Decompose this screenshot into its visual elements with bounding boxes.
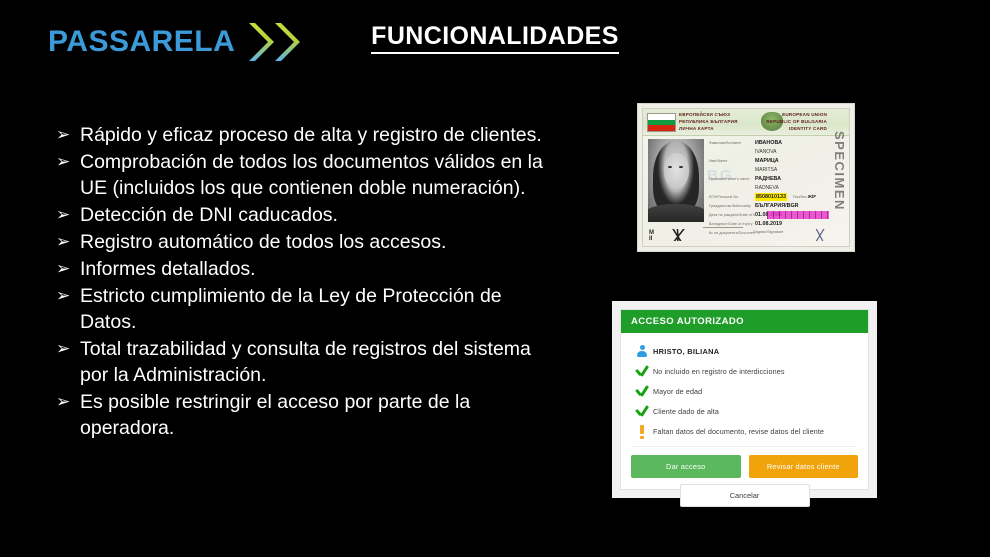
list-item-text: Rápido y eficaz proceso de alta y regist… (80, 122, 548, 148)
id-field-list: Фамилия/Surname ИВАНОВА IVANOVA Име/Name… (709, 139, 829, 238)
id-field-fathers-name-latin: RADNEVA (709, 184, 829, 192)
list-item: ➢ Informes detallados. (56, 256, 548, 282)
bullet-arrow-icon: ➢ (56, 202, 80, 228)
access-dialog: ACCESO AUTORIZADO HRISTO, BILIANA No inc… (620, 309, 869, 490)
specimen-watermark: SPECIMEN (832, 131, 847, 211)
id-field-egn: ЕГН/Personal No 8508010133 Пол/Sex Ж/F (709, 193, 829, 201)
id-field-value-latin: RADNEVA (755, 184, 779, 192)
grant-access-button[interactable]: Dar acceso (631, 455, 741, 478)
check-row-text: Mayor de edad (653, 387, 702, 396)
id-field-value-latin: IVANOVA (755, 148, 777, 156)
bullet-arrow-icon: ➢ (56, 149, 80, 175)
id-header-line: РЕПУБЛИКА БЪЛГАРИЯ (679, 118, 738, 125)
id-field-label: Гражданство/Nationality (709, 202, 755, 210)
warning-row-text: Faltan datos del documento, revise datos… (653, 427, 824, 436)
id-field-value: БЪЛГАРИЯ/BGR (755, 202, 799, 210)
list-item: ➢ Estricto cumplimiento de la Ley de Pro… (56, 283, 548, 335)
id-field-value-highlighted: 8508010133 (755, 193, 787, 201)
check-row-text: Cliente dado de alta (653, 407, 719, 416)
access-dialog-body: HRISTO, BILIANA No incluido en registro … (621, 333, 868, 447)
id-field-sex-value: Ж/F (808, 194, 816, 199)
id-field-value-latin: MARITSA (755, 166, 777, 174)
check-icon (631, 365, 653, 378)
list-item-text: Es posible restringir el acceso por part… (80, 389, 548, 441)
id-header-line: EUROPEAN UNION (766, 111, 827, 118)
warning-row: Faltan datos del documento, revise datos… (631, 421, 858, 441)
bulgarian-id-card-image: ЕВРОПЕЙСКИ СЪЮЗ РЕПУБЛИКА БЪЛГАРИЯ ЛИЧНА… (637, 103, 855, 252)
list-item: ➢ Comprobación de todos los documentos v… (56, 149, 548, 201)
client-row: HRISTO, BILIANA (631, 341, 858, 361)
id-header-line: REPUBLIC OF BULGARIA (766, 118, 827, 125)
id-field-name: Име/Name МАРИЦА (709, 157, 829, 165)
id-header-line: ЕВРОПЕЙСКИ СЪЮЗ (679, 111, 738, 118)
id-field-label: Име/Name (709, 157, 755, 165)
feature-bullet-list: ➢ Rápido y eficaz proceso de alta y regi… (56, 122, 548, 442)
id-field-value: 01.08.2019 (755, 220, 782, 228)
list-item-text: Estricto cumplimiento de la Ley de Prote… (80, 283, 548, 335)
check-row: Mayor de edad (631, 381, 858, 401)
bullet-arrow-icon: ➢ (56, 256, 80, 282)
person-icon (631, 345, 653, 357)
bullet-arrow-icon: ➢ (56, 283, 80, 309)
access-dialog-actions: Dar acceso Revisar datos cliente Cancela… (621, 447, 868, 516)
id-signature-label: Подпис/Signature (753, 230, 783, 234)
id-card-header-left: ЕВРОПЕЙСКИ СЪЮЗ РЕПУБЛИКА БЪЛГАРИЯ ЛИЧНА… (679, 111, 738, 132)
bullet-arrow-icon: ➢ (56, 122, 80, 148)
id-field-label: Фамилия/Surname (709, 139, 755, 147)
id-field-name-latin: MARITSA (709, 166, 829, 174)
list-item-text: Comprobación de todos los documentos vál… (80, 149, 548, 201)
check-icon (631, 405, 653, 418)
id-field-label: Дата на раждане/Date of birth (709, 211, 755, 219)
review-client-data-button[interactable]: Revisar datos cliente (749, 455, 859, 478)
list-item-text: Detección de DNI caducados. (80, 202, 548, 228)
id-handwriting-mark (663, 229, 693, 241)
list-item: ➢ Es posible restringir el acceso por pa… (56, 389, 548, 441)
check-row: Cliente dado de alta (631, 401, 858, 421)
check-row: No incluido en registro de interdiccione… (631, 361, 858, 381)
id-field-label: ЕГН/Personal No (709, 193, 755, 201)
warning-icon (631, 425, 653, 438)
bullet-arrow-icon: ➢ (56, 229, 80, 255)
list-item: ➢ Registro automático de todos los acces… (56, 229, 548, 255)
cancel-button[interactable]: Cancelar (680, 484, 810, 507)
client-name: HRISTO, BILIANA (653, 347, 719, 356)
id-field-surname-latin: IVANOVA (709, 148, 829, 156)
id-field-label: № на документа/Document number (709, 229, 755, 237)
check-icon (631, 385, 653, 398)
page-title: FUNCIONALIDADES (0, 22, 990, 51)
check-row-text: No incluido en registro de interdiccione… (653, 367, 785, 376)
id-photo (648, 139, 704, 222)
id-field-value: МАРИЦА (755, 157, 779, 165)
id-card-header-right: EUROPEAN UNION REPUBLIC OF BULGARIA IDEN… (766, 111, 827, 132)
id-field-sex: Пол/Sex Ж/F (793, 194, 816, 199)
id-field-sex-label: Пол/Sex (793, 195, 807, 199)
id-signature-line (703, 227, 743, 228)
id-mrz-left: MII (649, 230, 654, 242)
list-item-text: Informes detallados. (80, 256, 548, 282)
id-document-number-redacted (767, 211, 829, 219)
access-dialog-screenshot: ACCESO AUTORIZADO HRISTO, BILIANA No inc… (612, 301, 877, 498)
list-item-text: Total trazabilidad y consulta de registr… (80, 336, 548, 388)
id-field-fathers-name: Презиме/Father's name РАДНЕВА (709, 175, 829, 183)
id-field-nationality: Гражданство/Nationality БЪЛГАРИЯ/BGR (709, 202, 829, 210)
id-signature-mark (807, 229, 833, 241)
id-field-surname: Фамилия/Surname ИВАНОВА (709, 139, 829, 147)
id-field-label: Презиме/Father's name (709, 175, 755, 183)
list-item: ➢ Total trazabilidad y consulta de regis… (56, 336, 548, 388)
list-item-text: Registro automático de todos los accesos… (80, 229, 548, 255)
id-header-line: ЛИЧНА КАРТА (679, 125, 738, 132)
id-field-value: РАДНЕВА (755, 175, 781, 183)
page-title-text: FUNCIONALIDADES (371, 22, 619, 54)
id-field-value: ИВАНОВА (755, 139, 782, 147)
id-header-line: IDENTITY CARD (766, 125, 827, 132)
bullet-arrow-icon: ➢ (56, 336, 80, 362)
list-item: ➢ Rápido y eficaz proceso de alta y regi… (56, 122, 548, 148)
bulgaria-flag-icon (647, 113, 676, 132)
bullet-arrow-icon: ➢ (56, 389, 80, 415)
list-item: ➢ Detección de DNI caducados. (56, 202, 548, 228)
access-dialog-header: ACCESO AUTORIZADO (621, 310, 868, 333)
